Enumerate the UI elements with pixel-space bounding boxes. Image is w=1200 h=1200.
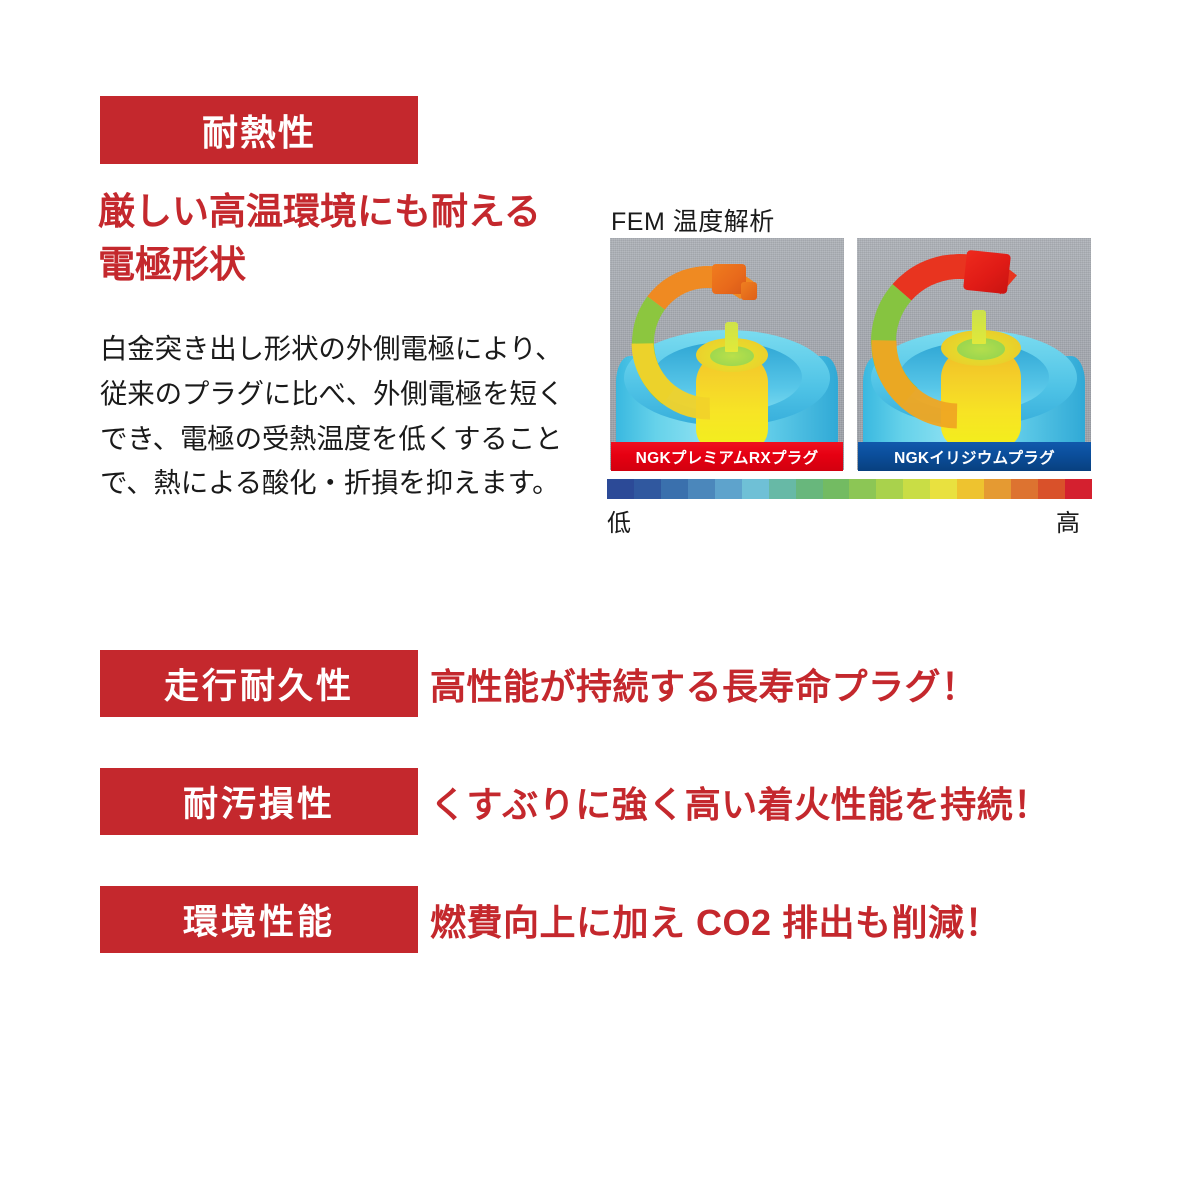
scale-swatch-15	[1011, 479, 1038, 499]
section-heading-badge-heat-resistance: 耐熱性	[100, 96, 418, 164]
subheading-line-1: 厳しい高温環境にも耐える	[98, 186, 618, 239]
feature-badge-environmental-performance: 環境性能	[100, 886, 418, 953]
scale-swatch-4	[715, 479, 742, 499]
scale-swatch-11	[903, 479, 930, 499]
feature-text-environmental-performance: 燃費向上に加え CO2 排出も削減！	[430, 889, 1001, 951]
scale-swatch-2	[661, 479, 688, 499]
scale-swatch-9	[849, 479, 876, 499]
scale-swatch-13	[957, 479, 984, 499]
scale-label-high: 高	[1056, 503, 1080, 538]
spark-plug-thermal-render-rx	[610, 238, 844, 470]
scale-label-low: 低	[607, 503, 631, 538]
scale-swatch-0	[607, 479, 634, 499]
platinum-tip-nub-rx	[741, 282, 757, 300]
fem-caption-premium-rx: NGKプレミアムRXプラグ	[611, 442, 843, 471]
spark-plug-thermal-render-iridium	[857, 238, 1091, 470]
scale-swatch-8	[823, 479, 850, 499]
scale-swatch-14	[984, 479, 1011, 499]
fem-thermal-image-iridium	[857, 238, 1091, 470]
body-line-4: で、熱による酸化・折損を抑えます。	[100, 461, 600, 506]
scale-swatch-7	[796, 479, 823, 499]
section-subheading: 厳しい高温環境にも耐える 電極形状	[98, 186, 618, 291]
body-line-2: 従来のプラグに比べ、外側電極を短く	[100, 372, 600, 417]
ground-electrode-tip-iridium	[963, 250, 1011, 294]
scale-swatch-16	[1038, 479, 1065, 499]
body-line-1: 白金突き出し形状の外側電極により、	[100, 327, 600, 372]
scale-swatch-12	[930, 479, 957, 499]
feature-text-driving-durability: 高性能が持続する長寿命プラグ！	[430, 653, 978, 715]
fem-caption-iridium: NGKイリジウムプラグ	[858, 442, 1091, 471]
feature-text-fouling-resistance: くすぶりに強く高い着火性能を持続！	[430, 771, 1050, 833]
section-body-text: 白金突き出し形状の外側電極により、 従来のプラグに比べ、外側電極を短く でき、電…	[100, 327, 600, 506]
scale-swatch-6	[769, 479, 796, 499]
fem-analysis-label: FEM 温度解析	[611, 202, 775, 238]
feature-badge-fouling-resistance: 耐汚損性	[100, 768, 418, 835]
scale-swatch-3	[688, 479, 715, 499]
scale-swatch-1	[634, 479, 661, 499]
scale-swatch-5	[742, 479, 769, 499]
scale-swatch-17	[1065, 479, 1092, 499]
temperature-color-scale	[607, 479, 1092, 499]
subheading-line-2: 電極形状	[98, 239, 618, 292]
fem-thermal-image-premium-rx	[610, 238, 844, 470]
scale-swatch-10	[876, 479, 903, 499]
body-line-3: でき、電極の受熱温度を低くすること	[100, 417, 600, 462]
feature-badge-driving-durability: 走行耐久性	[100, 650, 418, 717]
